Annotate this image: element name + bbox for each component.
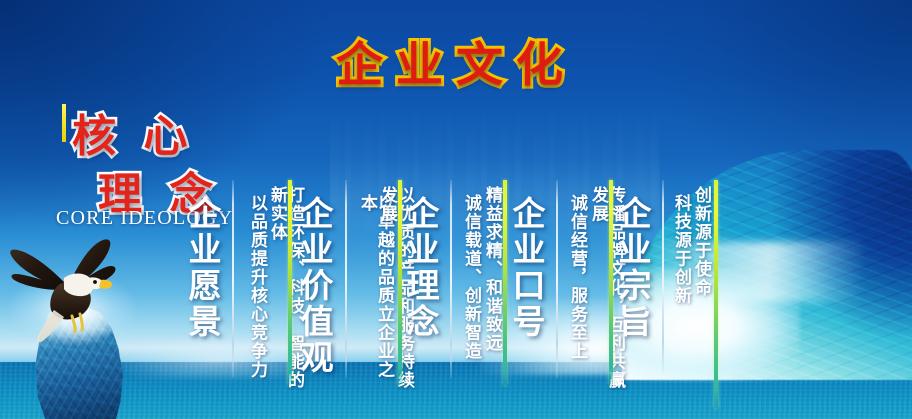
divider-grey-5 [662,180,664,378]
eagle-icon [2,222,152,352]
corporate-culture-poster: 企业文化 核 心 理 念 CORE IDEOLOGY 企业愿景 以品质提升核心竞… [0,0,912,419]
divider-grey-2 [345,180,347,378]
column-title-philosophy: 企业理念 [404,196,437,374]
divider-green-1 [288,180,292,385]
core-ideology-line1: 核 心 [72,100,193,164]
divider-green-5 [714,180,718,408]
page-title: 企业文化 [0,26,912,95]
column-body-mission-1: 创新源于使命 [692,186,709,316]
column-title-vision: 企业愿景 [186,196,219,374]
divider-grey-4 [556,180,558,378]
column-title-values: 企业价值观 [298,196,331,406]
column-body-mission-2: 科技源于创新 [672,194,689,324]
column-body-philosophy-1: 精益求精、和谐致远 [483,186,500,364]
ocean-wave [612,150,912,419]
column-body-slogan-2: 诚信经营，服务至上 [568,194,585,380]
column-body-vision-2: 以品质提升核心竞争力 [248,194,265,380]
divider-grey-3 [450,180,452,378]
column-title-mission: 企业宗旨 [616,196,649,374]
divider-grey-1 [232,180,234,378]
column-body-philosophy-2: 诚信载道、创新智造 [462,194,479,372]
column-title-slogan: 企业口号 [510,196,543,374]
core-ideology-accent-bar [62,104,66,142]
eagle-on-iceberg [2,222,152,419]
